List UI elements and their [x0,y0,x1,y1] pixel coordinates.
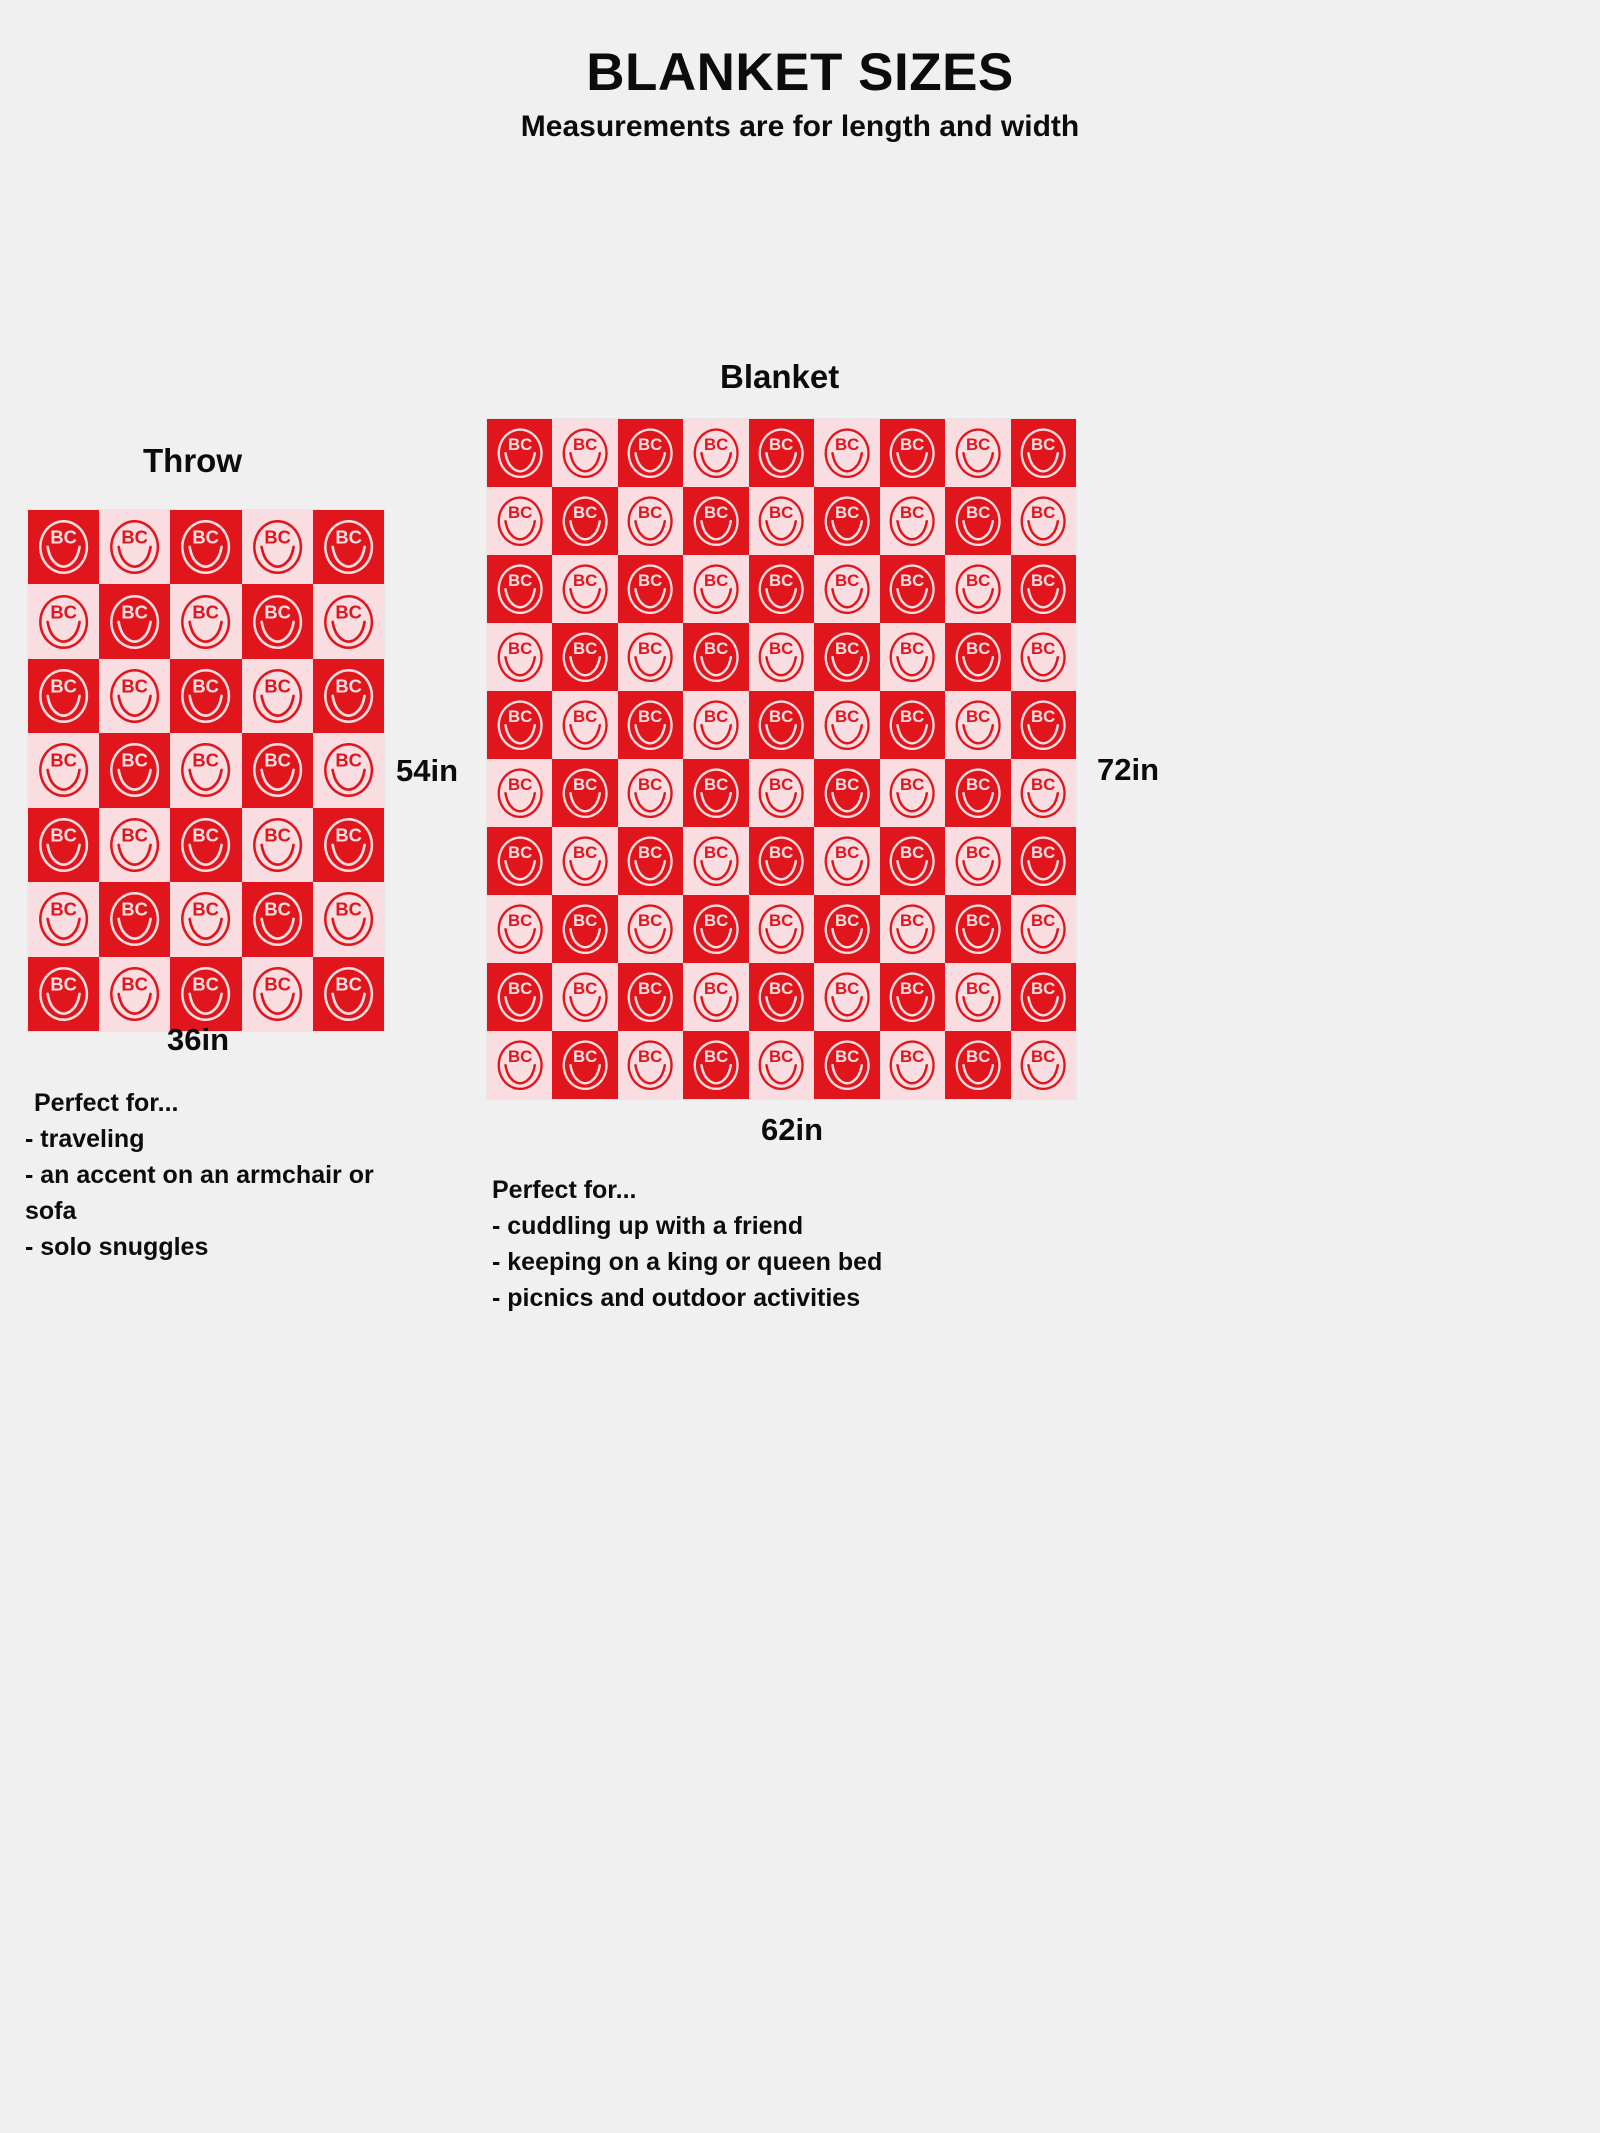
svg-text:BC: BC [573,571,597,590]
smiley-face-icon: BC [884,832,940,890]
svg-text:BC: BC [50,675,77,696]
fabric-cell: BC [552,827,617,895]
svg-text:BC: BC [335,750,362,771]
svg-text:BC: BC [264,527,291,548]
fabric-cell: BC [313,882,384,956]
fabric-cell: BC [618,827,683,895]
fabric-cell: BC [487,963,552,1031]
fabric-cell: BC [313,808,384,882]
fabric-cell: BC [945,691,1010,759]
smiley-face-icon: BC [819,900,875,958]
fabric-cell: BC [170,808,241,882]
smiley-face-icon: BC [318,813,379,877]
fabric-cell: BC [1011,895,1076,963]
fabric-cell: BC [99,584,170,658]
smiley-face-icon: BC [753,424,809,482]
smiley-face-icon: BC [950,424,1006,482]
svg-text:BC: BC [704,843,728,862]
svg-text:BC: BC [966,911,990,930]
fabric-cell: BC [814,963,879,1031]
smiley-face-icon: BC [318,515,379,579]
fabric-cell: BC [814,759,879,827]
fabric-cell: BC [749,419,814,487]
fabric-cell: BC [683,623,748,691]
fabric-cell: BC [1011,759,1076,827]
smiley-face-icon: BC [33,887,94,951]
fabric-cell: BC [814,419,879,487]
fabric-cell: BC [945,963,1010,1031]
svg-text:BC: BC [193,973,220,994]
fabric-cell: BC [99,510,170,584]
fabric-cell: BC [28,808,99,882]
fabric-cell: BC [1011,1031,1076,1099]
svg-text:BC: BC [122,750,149,771]
svg-text:BC: BC [122,527,149,548]
svg-text:BC: BC [508,979,532,998]
blanket-perfect-for-item: - cuddling up with a friend [492,1208,1052,1244]
fabric-cell: BC [618,1031,683,1099]
fabric-cell: BC [880,827,945,895]
smiley-face-icon: BC [1015,1036,1071,1094]
smiley-face-icon: BC [33,664,94,728]
throw-fabric-swatch: BCBCBCBCBCBCBCBCBCBCBCBCBCBCBCBCBCBCBCBC… [28,510,384,1031]
smiley-face-icon: BC [688,1036,744,1094]
svg-text:BC: BC [638,571,662,590]
svg-text:BC: BC [1031,503,1055,522]
fabric-cell: BC [487,623,552,691]
fabric-cell: BC [618,555,683,623]
smiley-face-icon: BC [753,560,809,618]
smiley-face-icon: BC [688,764,744,822]
smiley-face-icon: BC [1015,832,1071,890]
fabric-cell: BC [1011,555,1076,623]
svg-text:BC: BC [573,435,597,454]
smiley-face-icon: BC [950,628,1006,686]
fabric-cell: BC [242,510,313,584]
fabric-cell: BC [749,759,814,827]
smiley-face-icon: BC [884,492,940,550]
fabric-cell: BC [28,510,99,584]
smiley-face-icon: BC [753,696,809,754]
svg-text:BC: BC [50,601,77,622]
smiley-face-icon: BC [950,832,1006,890]
smiley-face-icon: BC [557,764,613,822]
fabric-cell: BC [945,895,1010,963]
svg-text:BC: BC [335,601,362,622]
smiley-face-icon: BC [557,1036,613,1094]
svg-text:BC: BC [769,571,793,590]
svg-text:BC: BC [508,775,532,794]
svg-text:BC: BC [335,973,362,994]
fabric-cell: BC [99,808,170,882]
svg-text:BC: BC [193,824,220,845]
smiley-face-icon: BC [318,590,379,654]
fabric-cell: BC [618,487,683,555]
fabric-cell: BC [618,963,683,1031]
fabric-cell: BC [814,623,879,691]
fabric-cell: BC [242,733,313,807]
fabric-cell: BC [749,691,814,759]
smiley-face-icon: BC [950,696,1006,754]
svg-text:BC: BC [335,675,362,696]
svg-text:BC: BC [769,775,793,794]
smiley-face-icon: BC [950,1036,1006,1094]
smiley-face-icon: BC [104,664,165,728]
svg-text:BC: BC [900,707,924,726]
fabric-cell: BC [814,895,879,963]
fabric-cell: BC [313,510,384,584]
svg-text:BC: BC [50,527,77,548]
fabric-cell: BC [749,827,814,895]
svg-text:BC: BC [573,707,597,726]
svg-text:BC: BC [50,824,77,845]
svg-text:BC: BC [573,639,597,658]
smiley-face-icon: BC [622,764,678,822]
svg-text:BC: BC [50,750,77,771]
fabric-cell: BC [749,487,814,555]
svg-text:BC: BC [769,435,793,454]
svg-text:BC: BC [900,503,924,522]
svg-text:BC: BC [573,775,597,794]
fabric-cell: BC [313,584,384,658]
smiley-face-icon: BC [557,628,613,686]
svg-text:BC: BC [966,1047,990,1066]
smiley-face-icon: BC [557,492,613,550]
throw-perfect-for-item: - traveling [25,1121,385,1157]
svg-text:BC: BC [900,435,924,454]
svg-text:BC: BC [1031,775,1055,794]
svg-text:BC: BC [638,707,662,726]
svg-text:BC: BC [1031,571,1055,590]
smiley-face-icon: BC [819,764,875,822]
fabric-cell: BC [618,623,683,691]
smiley-face-icon: BC [1015,492,1071,550]
smiley-face-icon: BC [492,696,548,754]
svg-text:BC: BC [835,775,859,794]
smiley-face-icon: BC [950,492,1006,550]
smiley-face-icon: BC [175,738,236,802]
fabric-cell: BC [683,827,748,895]
fabric-cell: BC [552,623,617,691]
svg-text:BC: BC [835,707,859,726]
smiley-face-icon: BC [175,887,236,951]
svg-text:BC: BC [1031,435,1055,454]
fabric-cell: BC [313,957,384,1031]
fabric-cell: BC [945,1031,1010,1099]
svg-text:BC: BC [638,911,662,930]
smiley-face-icon: BC [950,968,1006,1026]
svg-text:BC: BC [122,973,149,994]
fabric-cell: BC [552,895,617,963]
smiley-face-icon: BC [33,515,94,579]
svg-text:BC: BC [966,979,990,998]
smiley-face-icon: BC [557,900,613,958]
fabric-cell: BC [814,827,879,895]
fabric-cell: BC [552,963,617,1031]
smiley-face-icon: BC [1015,424,1071,482]
svg-text:BC: BC [704,571,728,590]
smiley-face-icon: BC [622,832,678,890]
svg-text:BC: BC [193,601,220,622]
fabric-cell: BC [242,882,313,956]
smiley-face-icon: BC [492,424,548,482]
svg-text:BC: BC [1031,639,1055,658]
fabric-cell: BC [99,882,170,956]
smiley-face-icon: BC [104,738,165,802]
smiley-face-icon: BC [753,900,809,958]
smiley-face-icon: BC [1015,764,1071,822]
svg-text:BC: BC [638,843,662,862]
blanket-section-label: Blanket [720,358,839,396]
svg-text:BC: BC [966,775,990,794]
smiley-face-icon: BC [175,590,236,654]
smiley-face-icon: BC [819,628,875,686]
fabric-cell: BC [1011,963,1076,1031]
svg-text:BC: BC [966,503,990,522]
smiley-face-icon: BC [622,968,678,1026]
svg-text:BC: BC [900,571,924,590]
smiley-face-icon: BC [492,560,548,618]
smiley-face-icon: BC [318,887,379,951]
svg-text:BC: BC [193,750,220,771]
smiley-face-icon: BC [557,696,613,754]
fabric-cell: BC [487,895,552,963]
smiley-face-icon: BC [557,968,613,1026]
svg-text:BC: BC [122,601,149,622]
fabric-cell: BC [683,555,748,623]
svg-text:BC: BC [193,527,220,548]
smiley-face-icon: BC [1015,968,1071,1026]
svg-text:BC: BC [966,707,990,726]
fabric-cell: BC [28,584,99,658]
smiley-face-icon: BC [819,560,875,618]
svg-text:BC: BC [704,979,728,998]
fabric-cell: BC [487,691,552,759]
smiley-face-icon: BC [819,424,875,482]
fabric-cell: BC [814,487,879,555]
smiley-face-icon: BC [622,1036,678,1094]
blanket-perfect-for-block: Perfect for... - cuddling up with a frie… [492,1172,1052,1316]
svg-text:BC: BC [638,503,662,522]
svg-text:BC: BC [335,899,362,920]
fabric-cell: BC [880,1031,945,1099]
svg-text:BC: BC [122,675,149,696]
smiley-face-icon: BC [247,962,308,1026]
svg-text:BC: BC [573,843,597,862]
smiley-face-icon: BC [622,900,678,958]
svg-text:BC: BC [508,1047,532,1066]
fabric-cell: BC [945,555,1010,623]
svg-text:BC: BC [508,435,532,454]
throw-width-dimension: 36in [167,1022,229,1058]
svg-text:BC: BC [900,639,924,658]
svg-text:BC: BC [769,979,793,998]
svg-text:BC: BC [769,503,793,522]
svg-text:BC: BC [1031,911,1055,930]
svg-text:BC: BC [264,824,291,845]
svg-text:BC: BC [638,979,662,998]
svg-text:BC: BC [508,843,532,862]
svg-text:BC: BC [1031,843,1055,862]
svg-text:BC: BC [835,843,859,862]
svg-text:BC: BC [835,435,859,454]
fabric-cell: BC [618,759,683,827]
svg-text:BC: BC [966,571,990,590]
smiley-face-icon: BC [104,590,165,654]
smiley-face-icon: BC [622,560,678,618]
smiley-face-icon: BC [33,738,94,802]
smiley-face-icon: BC [175,664,236,728]
smiley-face-icon: BC [819,492,875,550]
fabric-cell: BC [814,691,879,759]
smiley-face-icon: BC [318,664,379,728]
smiley-face-icon: BC [175,813,236,877]
smiley-face-icon: BC [884,900,940,958]
smiley-face-icon: BC [492,764,548,822]
fabric-cell: BC [683,487,748,555]
smiley-face-icon: BC [492,968,548,1026]
svg-text:BC: BC [704,775,728,794]
svg-text:BC: BC [900,843,924,862]
fabric-cell: BC [749,1031,814,1099]
svg-text:BC: BC [769,843,793,862]
blanket-height-dimension: 72in [1097,752,1159,788]
fabric-cell: BC [487,1031,552,1099]
svg-text:BC: BC [50,899,77,920]
fabric-cell: BC [880,895,945,963]
fabric-cell: BC [28,957,99,1031]
blanket-size-guide: BLANKET SIZES Measurements are for lengt… [0,0,1600,2133]
throw-perfect-for-heading: Perfect for... [34,1085,385,1121]
blanket-fabric-swatch: BCBCBCBCBCBCBCBCBCBCBCBCBCBCBCBCBCBCBCBC… [487,419,1076,1099]
fabric-cell: BC [242,584,313,658]
smiley-face-icon: BC [104,515,165,579]
blanket-width-dimension: 62in [761,1112,823,1148]
smiley-face-icon: BC [688,424,744,482]
fabric-cell: BC [99,957,170,1031]
smiley-face-icon: BC [33,962,94,1026]
svg-text:BC: BC [704,1047,728,1066]
svg-text:BC: BC [573,503,597,522]
fabric-cell: BC [552,555,617,623]
throw-height-dimension: 54in [396,753,458,789]
smiley-face-icon: BC [1015,560,1071,618]
smiley-face-icon: BC [884,764,940,822]
fabric-cell: BC [552,1031,617,1099]
throw-perfect-for-block: Perfect for... - traveling - an accent o… [25,1085,385,1265]
fabric-cell: BC [618,691,683,759]
fabric-cell: BC [28,733,99,807]
smiley-face-icon: BC [884,968,940,1026]
smiley-face-icon: BC [622,424,678,482]
fabric-cell: BC [683,419,748,487]
fabric-cell: BC [1011,827,1076,895]
svg-text:BC: BC [966,435,990,454]
svg-text:BC: BC [704,911,728,930]
smiley-face-icon: BC [688,560,744,618]
svg-text:BC: BC [508,707,532,726]
fabric-cell: BC [170,659,241,733]
smiley-face-icon: BC [104,962,165,1026]
smiley-face-icon: BC [1015,900,1071,958]
svg-text:BC: BC [966,843,990,862]
smiley-face-icon: BC [753,764,809,822]
smiley-face-icon: BC [1015,628,1071,686]
svg-text:BC: BC [638,775,662,794]
svg-text:BC: BC [835,1047,859,1066]
svg-text:BC: BC [122,899,149,920]
fabric-cell: BC [487,487,552,555]
fabric-cell: BC [552,487,617,555]
smiley-face-icon: BC [247,813,308,877]
fabric-cell: BC [487,555,552,623]
svg-text:BC: BC [835,503,859,522]
svg-text:BC: BC [638,1047,662,1066]
fabric-cell: BC [487,827,552,895]
fabric-cell: BC [170,584,241,658]
smiley-face-icon: BC [884,696,940,754]
smiley-face-icon: BC [175,962,236,1026]
smiley-face-icon: BC [557,424,613,482]
smiley-face-icon: BC [753,492,809,550]
svg-text:BC: BC [1031,979,1055,998]
smiley-face-icon: BC [33,813,94,877]
svg-text:BC: BC [508,639,532,658]
smiley-face-icon: BC [753,968,809,1026]
svg-text:BC: BC [769,639,793,658]
smiley-face-icon: BC [688,492,744,550]
smiley-face-icon: BC [557,832,613,890]
fabric-cell: BC [552,691,617,759]
fabric-cell: BC [99,733,170,807]
smiley-face-icon: BC [622,696,678,754]
fabric-cell: BC [749,963,814,1031]
fabric-cell: BC [880,555,945,623]
fabric-cell: BC [1011,487,1076,555]
svg-text:BC: BC [508,571,532,590]
fabric-cell: BC [242,808,313,882]
fabric-cell: BC [1011,419,1076,487]
smiley-face-icon: BC [247,738,308,802]
svg-text:BC: BC [900,911,924,930]
smiley-face-icon: BC [753,1036,809,1094]
fabric-cell: BC [683,691,748,759]
svg-text:BC: BC [335,824,362,845]
svg-text:BC: BC [264,675,291,696]
fabric-cell: BC [683,963,748,1031]
svg-text:BC: BC [900,979,924,998]
svg-text:BC: BC [638,435,662,454]
fabric-cell: BC [552,759,617,827]
page-title: BLANKET SIZES [0,42,1600,103]
svg-text:BC: BC [704,639,728,658]
smiley-face-icon: BC [247,590,308,654]
fabric-cell: BC [749,895,814,963]
fabric-cell: BC [749,555,814,623]
svg-text:BC: BC [264,601,291,622]
fabric-cell: BC [313,659,384,733]
svg-text:BC: BC [704,707,728,726]
fabric-cell: BC [683,1031,748,1099]
svg-text:BC: BC [50,973,77,994]
svg-text:BC: BC [264,973,291,994]
fabric-cell: BC [487,419,552,487]
svg-text:BC: BC [1031,707,1055,726]
fabric-cell: BC [170,510,241,584]
fabric-cell: BC [880,759,945,827]
fabric-cell: BC [618,419,683,487]
fabric-cell: BC [1011,623,1076,691]
